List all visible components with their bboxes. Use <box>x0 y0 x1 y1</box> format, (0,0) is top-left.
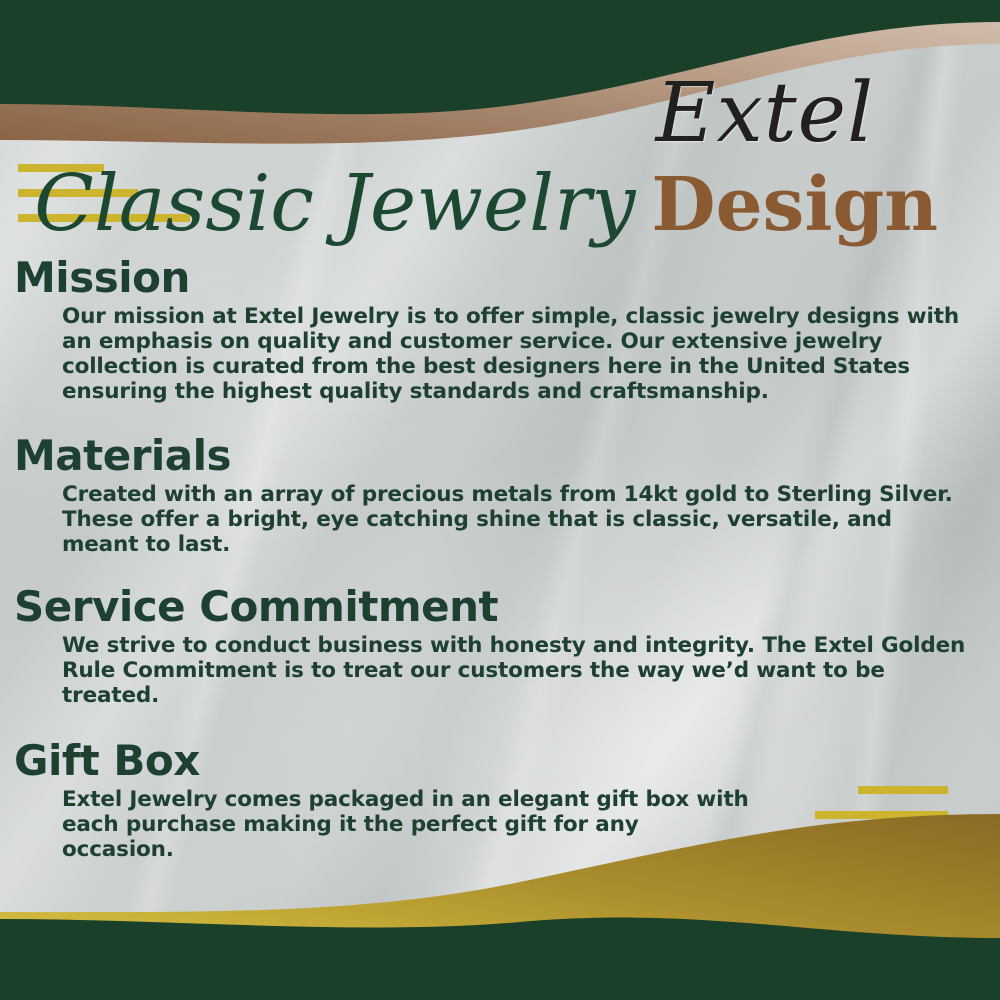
section-title: Mission <box>0 252 1000 304</box>
poster-canvas: Extel Classic JewelryDesign Mission Our … <box>0 0 1000 1000</box>
accent-bar <box>858 786 948 794</box>
section-materials: Materials Created with an array of preci… <box>0 430 1000 557</box>
section-body: We strive to conduct business with hones… <box>0 633 1000 708</box>
section-title: Materials <box>0 430 1000 482</box>
content-sections: Mission Our mission at Extel Jewelry is … <box>0 252 1000 862</box>
headline-secondary: Design <box>651 162 938 248</box>
section-body: Created with an array of precious metals… <box>0 482 1000 557</box>
bottom-wave-banner <box>0 800 1000 1000</box>
section-title: Gift Box <box>0 735 1000 787</box>
section-body: Our mission at Extel Jewelry is to offer… <box>0 304 1000 404</box>
section-title: Service Commitment <box>0 581 1000 633</box>
headline-primary: Classic Jewelry <box>34 159 635 249</box>
section-mission: Mission Our mission at Extel Jewelry is … <box>0 252 1000 404</box>
brand-logo: Extel <box>600 68 930 160</box>
section-service-commitment: Service Commitment We strive to conduct … <box>0 581 1000 708</box>
